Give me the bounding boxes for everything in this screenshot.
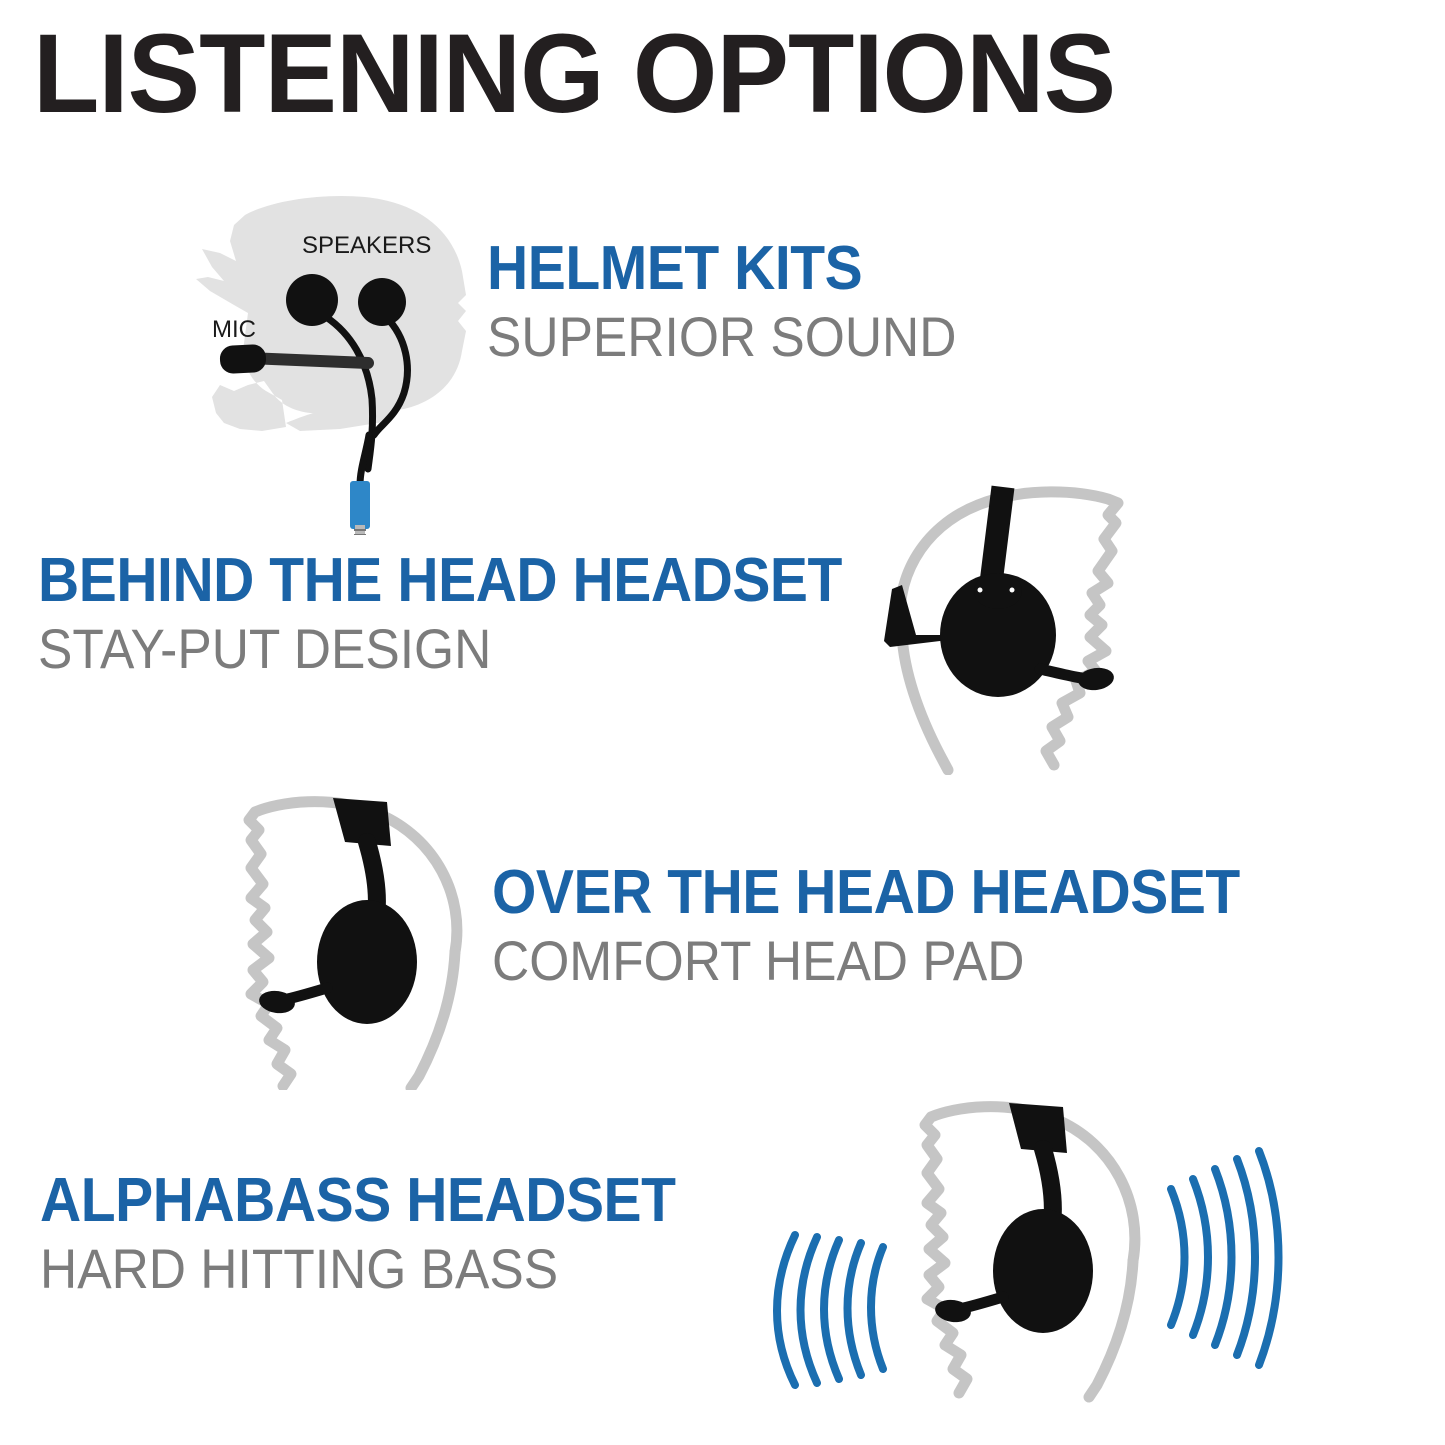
over-the-head-headset-illustration xyxy=(215,780,515,1090)
section-alpha-headline: ALPHABASS HEADSET xyxy=(40,1168,676,1234)
head-jaw-outline xyxy=(902,635,948,770)
mic-capsule-icon xyxy=(219,344,266,374)
section-over-subline: COMFORT HEAD PAD xyxy=(492,930,1240,993)
alphabass-headset-illustration xyxy=(765,1085,1295,1435)
behind-the-head-headset-illustration xyxy=(840,465,1160,775)
soundwave-arc xyxy=(777,1235,795,1385)
soundwave-arc xyxy=(801,1237,818,1383)
ear-cup-screw-right xyxy=(1010,588,1015,593)
speaker-right-icon xyxy=(358,278,406,326)
soundwave-arc xyxy=(1215,1169,1232,1345)
head-jaw-outline xyxy=(411,952,455,1088)
soundwave-arc xyxy=(1171,1189,1185,1325)
section-alpha-text: ALPHABASS HEADSET HARD HITTING BASS xyxy=(40,1168,731,1300)
ear-cup-screw-left xyxy=(978,588,983,593)
soundwave-arc xyxy=(871,1247,883,1369)
section-helmet-subline: SUPERIOR SOUND xyxy=(487,306,956,369)
soundwave-right-group xyxy=(1171,1151,1279,1365)
section-over-text: OVER THE HEAD HEADSET COMFORT HEAD PAD xyxy=(492,860,1305,992)
mic-label: MIC xyxy=(212,316,256,343)
section-behind-text: BEHIND THE HEAD HEADSET STAY-PUT DESIGN xyxy=(38,548,912,680)
soundwave-arc xyxy=(824,1240,839,1379)
head-jaw-outline xyxy=(1089,1261,1133,1397)
infographic-page: LISTENING OPTIONS SPEAKERS MIC xyxy=(0,0,1445,1445)
plug-body xyxy=(350,481,370,529)
section-helmet-headline: HELMET KITS xyxy=(487,236,956,302)
soundwave-left-group xyxy=(777,1235,883,1385)
helmet-kit-illustration: SPEAKERS MIC xyxy=(190,185,510,535)
section-helmet-text: HELMET KITS SUPERIOR SOUND xyxy=(487,236,997,368)
soundwave-arc xyxy=(1193,1179,1208,1335)
page-title: LISTENING OPTIONS xyxy=(33,18,1115,130)
plug-ring-2 xyxy=(354,534,366,535)
soundwave-arc xyxy=(848,1243,862,1375)
speaker-left-icon xyxy=(286,274,338,326)
soundwave-arc xyxy=(1259,1151,1279,1365)
section-behind-headline: BEHIND THE HEAD HEADSET xyxy=(38,548,842,614)
soundwave-arc xyxy=(1237,1159,1255,1355)
speakers-label: SPEAKERS xyxy=(302,232,431,259)
ear-cup xyxy=(317,900,417,1024)
section-alpha-subline: HARD HITTING BASS xyxy=(40,1238,676,1301)
plug-ring-1 xyxy=(354,529,366,531)
section-over-headline: OVER THE HEAD HEADSET xyxy=(492,860,1240,926)
ear-cup xyxy=(993,1209,1093,1333)
section-behind-subline: STAY-PUT DESIGN xyxy=(38,618,842,681)
